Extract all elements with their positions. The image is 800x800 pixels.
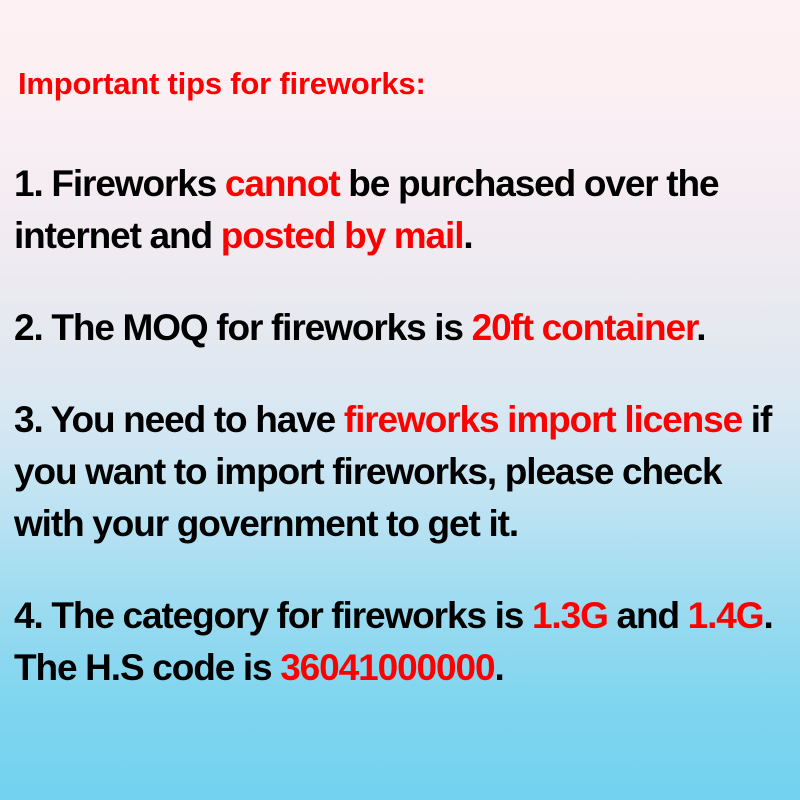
body-text: . <box>494 647 503 688</box>
body-text: 2. The MOQ for fireworks is <box>14 307 472 348</box>
fireworks-tips-poster: Important tips for fireworks: 1. Firewor… <box>0 0 800 800</box>
poster-heading: Important tips for fireworks: <box>18 66 794 102</box>
tip-item-3: 3. You need to have fireworks import lic… <box>14 394 794 550</box>
body-text: . <box>463 215 472 256</box>
highlighted-text: 1.3G <box>532 595 608 636</box>
highlighted-text: 1.4G <box>688 595 764 636</box>
tip-item-4: 4. The category for fireworks is 1.3G an… <box>14 590 794 694</box>
body-text: and <box>608 595 688 636</box>
tip-item-2: 2. The MOQ for fireworks is 20ft contain… <box>14 302 794 354</box>
body-text: 1. Fireworks <box>14 163 225 204</box>
highlighted-text: cannot <box>225 163 340 204</box>
tip-item-1: 1. Fireworks cannot be purchased over th… <box>14 158 794 262</box>
highlighted-text: posted by mail <box>221 215 464 256</box>
body-text: 3. You need to have <box>14 399 344 440</box>
body-text: 4. The category for fireworks is <box>14 595 532 636</box>
highlighted-text: 20ft container <box>472 307 697 348</box>
poster-content: Important tips for fireworks: 1. Firewor… <box>14 66 794 694</box>
highlighted-text: fireworks import license <box>344 399 742 440</box>
body-text: . <box>696 307 705 348</box>
highlighted-text: 36041000000 <box>280 647 494 688</box>
